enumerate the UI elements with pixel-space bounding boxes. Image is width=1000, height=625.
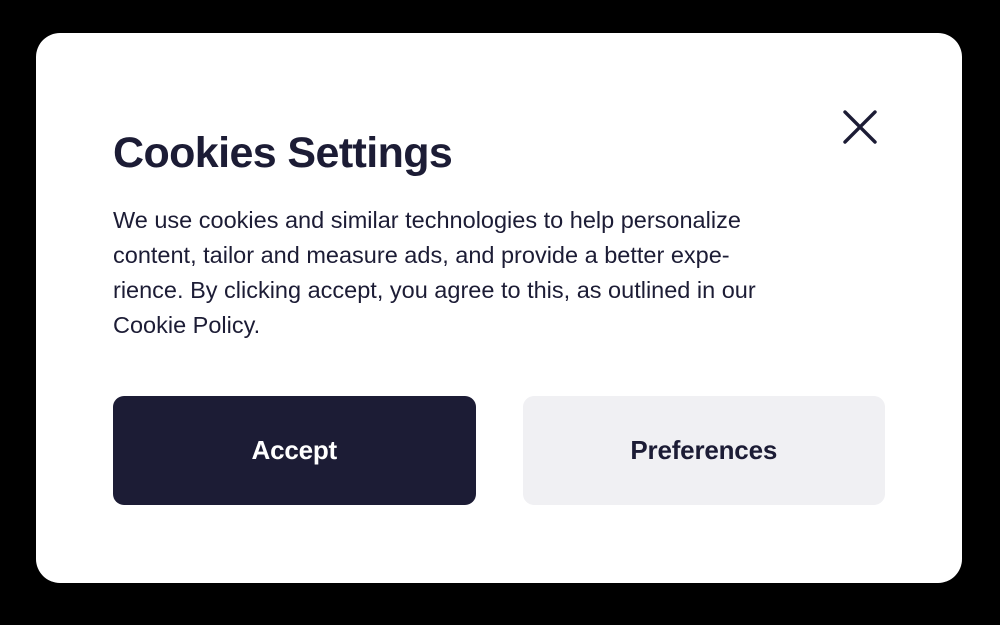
body-line: rience. By clicking accept, you agree to… — [113, 273, 903, 308]
preferences-button[interactable]: Preferences — [523, 396, 886, 505]
close-icon — [840, 107, 880, 147]
dialog-actions: Accept Preferences — [113, 396, 885, 505]
body-line: content, tailor and measure ads, and pro… — [113, 238, 903, 273]
close-button[interactable] — [836, 103, 884, 151]
accept-button[interactable]: Accept — [113, 396, 476, 505]
dialog-header: Cookies Settings — [36, 33, 962, 183]
cookies-settings-dialog: Cookies Settings We use cookies and simi… — [36, 33, 962, 583]
page-title: Cookies Settings — [113, 132, 452, 175]
body-line: We use cookies and similar technologies … — [113, 203, 903, 238]
screen-root: Cookies Settings We use cookies and simi… — [0, 0, 1000, 625]
dialog-body-text: We use cookies and similar technologies … — [113, 203, 903, 343]
body-line: Cookie Policy. — [113, 308, 903, 343]
